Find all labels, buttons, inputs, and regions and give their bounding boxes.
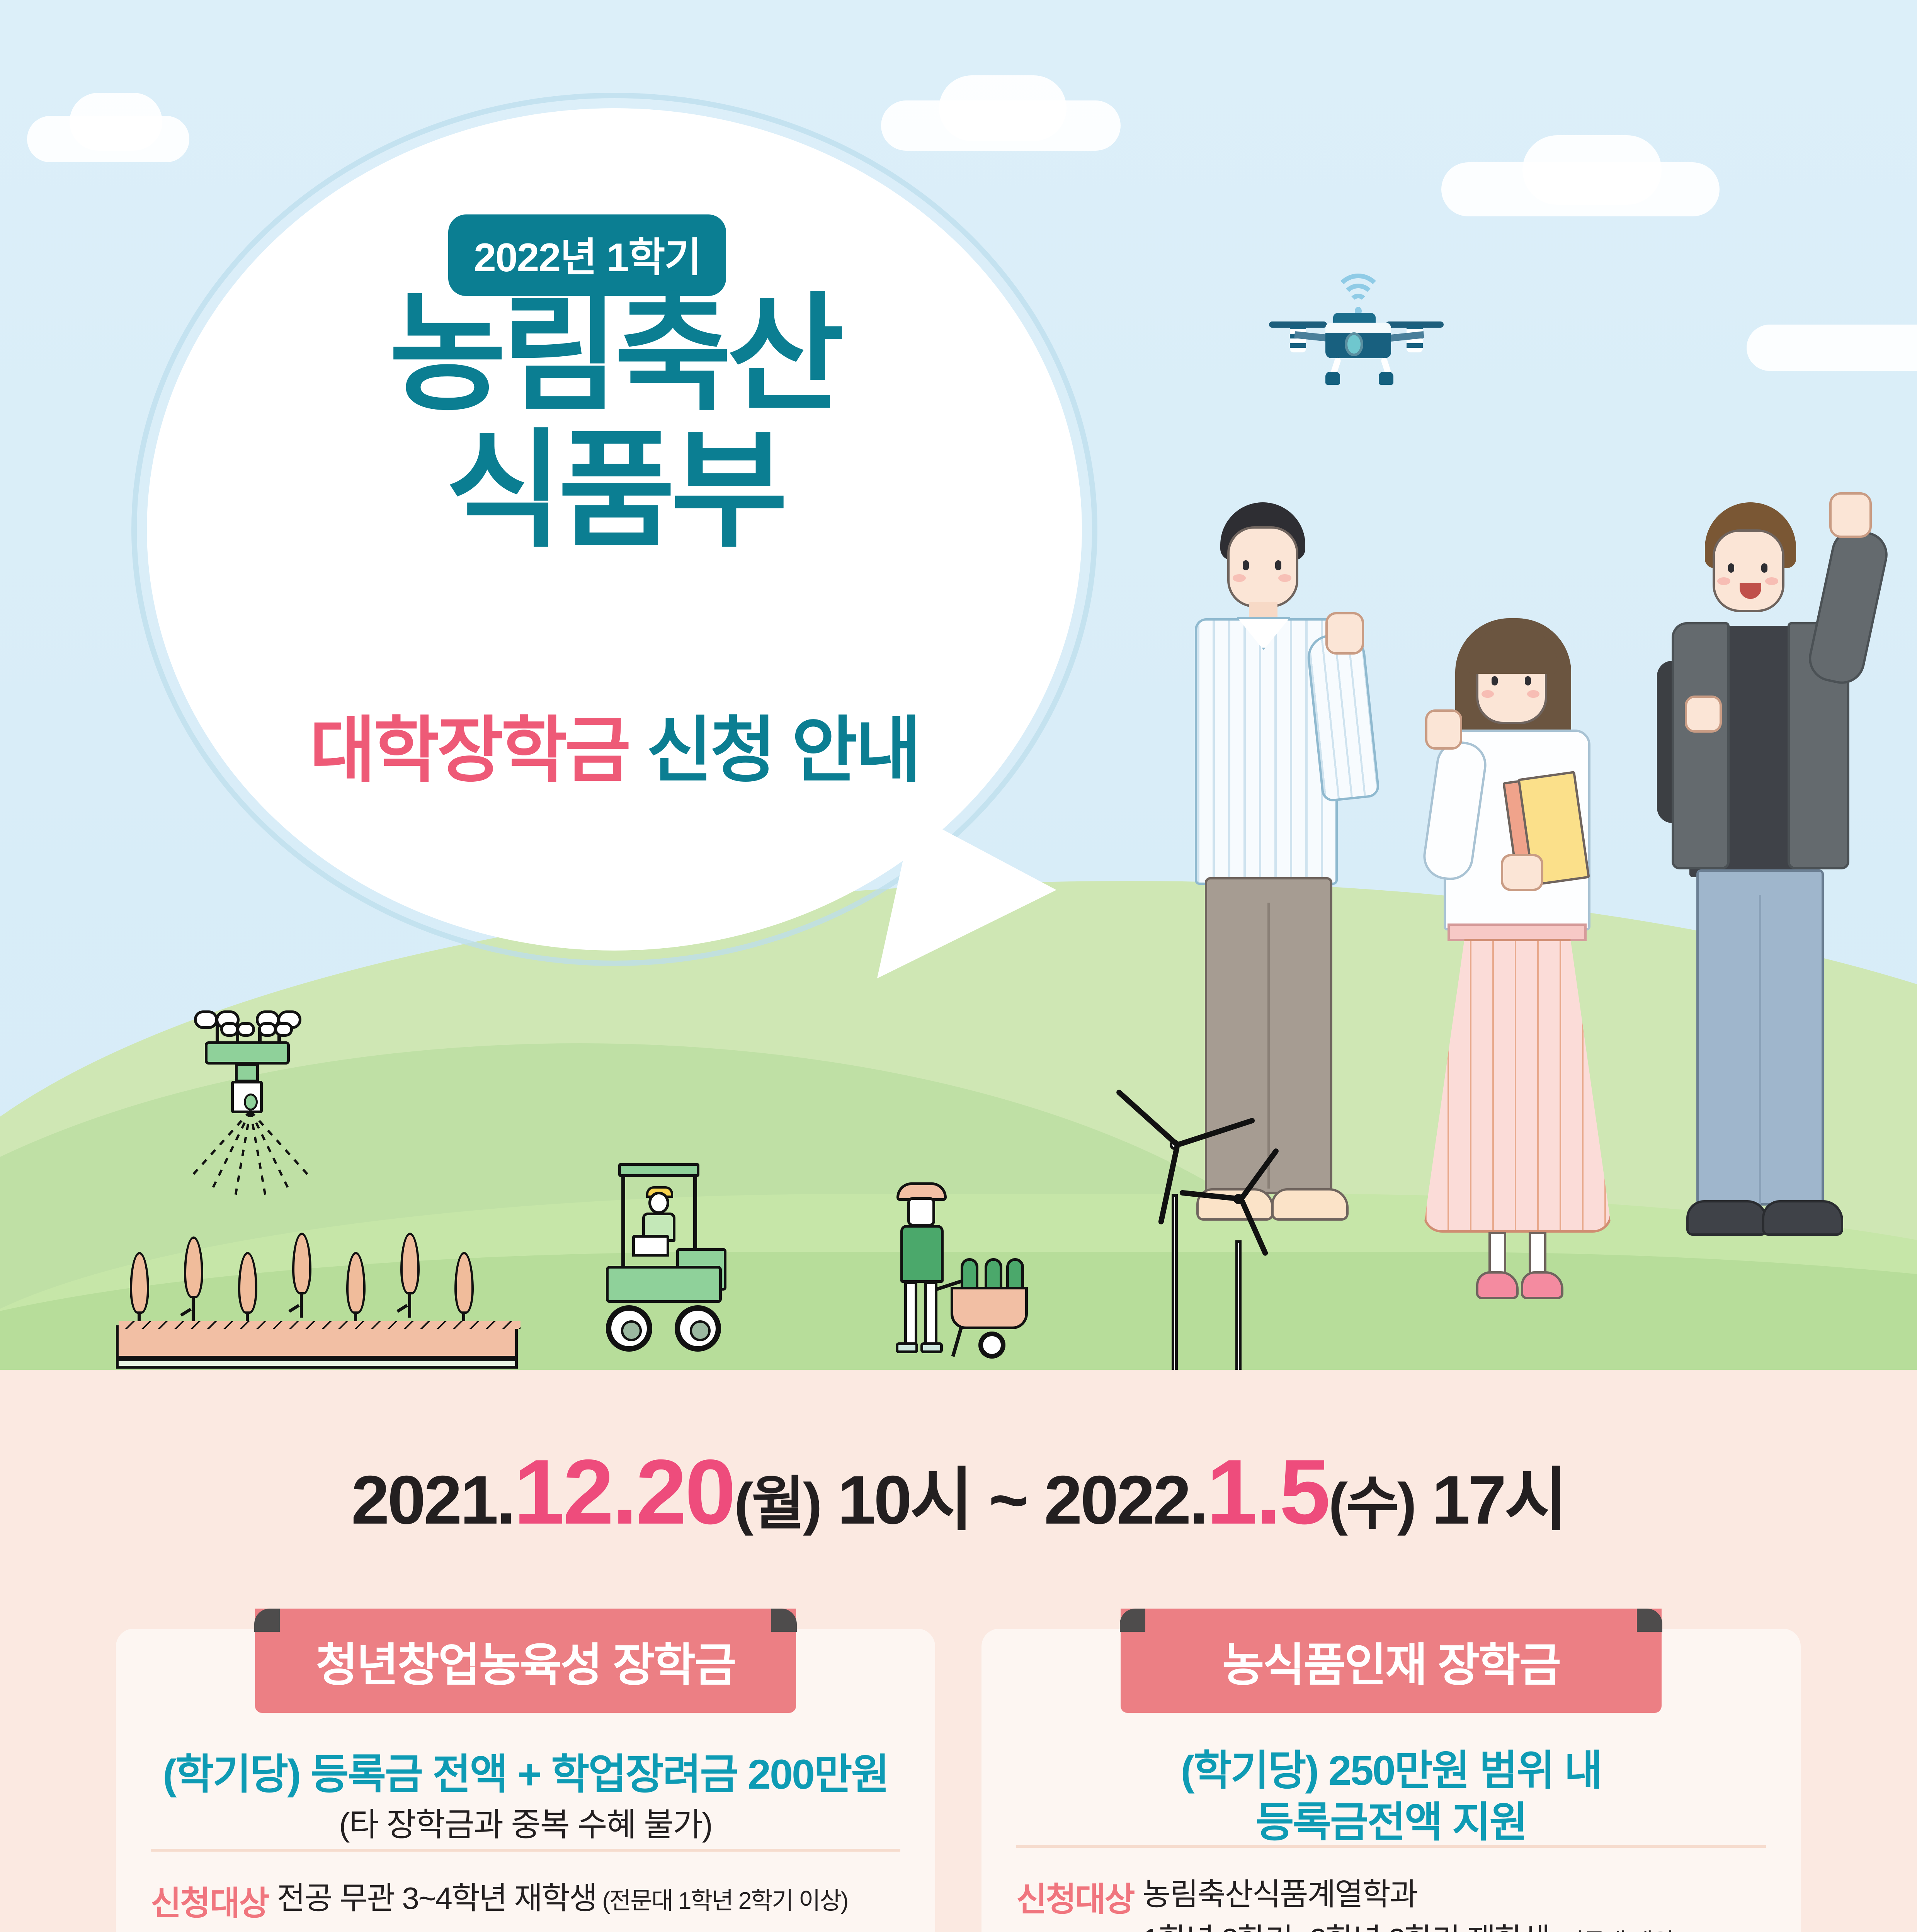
page-subtitle-rest: 신청 안내: [629, 711, 919, 791]
period-separator: ~: [988, 1461, 1044, 1538]
student-female-with-books: [1414, 618, 1631, 1325]
application-period: 2021.12.20(월) 10시 ~ 2022.1.5(수) 17시: [0, 1439, 1917, 1545]
period-start-year: 2021.: [351, 1461, 514, 1538]
period-end-time: 17시: [1415, 1461, 1566, 1538]
card-detail-rows: 신청대상 농림축산식품계열학과 1학년 2학기~2학년 2학기 재학생 (전문대…: [1016, 1872, 1774, 1932]
detail-value: 농림축산식품계열학과 1학년 2학기~2학년 2학기 재학생 (전문대 제외): [1134, 1872, 1774, 1932]
detail-value-small: (전문대 제외): [1550, 1929, 1680, 1932]
tractor-icon: [560, 1159, 777, 1370]
card-amount: (학기당) 등록금 전액 + 학업장려금 200만원: [116, 1748, 935, 1800]
period-start-time: 10시: [820, 1461, 989, 1538]
detail-value-main: 전공 무관 3~4학년 재학생: [277, 1881, 596, 1915]
wind-turbine-icon: [1206, 1194, 1271, 1370]
hero-illustration-section: 2022년 1학기 농림축산 식품부 대학장학금 신청 안내: [0, 0, 1917, 1370]
cloud-icon: [1747, 325, 1917, 371]
scholarship-card-youth-startup: 청년창업농육성 장학금 (학기당) 등록금 전액 + 학업장려금 200만원 (…: [116, 1629, 935, 1932]
spray-lines-icon: [205, 1111, 294, 1207]
page-title-line2: 식품부: [162, 422, 1067, 559]
agri-drone-icon: [166, 995, 336, 1211]
page-subtitle: 대학장학금 신청 안내: [162, 692, 1067, 796]
wheat-field-icon: [116, 1209, 526, 1370]
card-divider: [1016, 1845, 1766, 1848]
page-subtitle-highlight: 대학장학금: [310, 711, 629, 791]
page-title-line1: 농림축산: [162, 286, 1067, 422]
card-title: 청년창업농육성 장학금: [316, 1628, 735, 1694]
cloud-icon: [939, 75, 1067, 141]
student-male-jacket-cheering: [1638, 479, 1893, 1321]
detail-label: 신청대상: [151, 1876, 268, 1924]
detail-label: 신청대상: [1016, 1872, 1134, 1920]
card-amount: (학기당) 250만원 범위 내 등록금전액 지원: [981, 1745, 1801, 1848]
period-end-date: 1.5: [1206, 1441, 1328, 1543]
scholarship-cards: 청년창업농육성 장학금 (학기당) 등록금 전액 + 학업장려금 200만원 (…: [116, 1609, 1801, 1932]
period-end-day: (수): [1328, 1471, 1415, 1536]
page-title: 농림축산 식품부: [162, 286, 1067, 559]
farmer-wheelbarrow-icon: [873, 1182, 1074, 1370]
content-section: 2021.12.20(월) 10시 ~ 2022.1.5(수) 17시 청년창업…: [0, 1370, 1917, 1932]
cloud-icon: [1522, 135, 1662, 205]
card-title: 농식품인재 장학금: [1222, 1628, 1560, 1694]
card-ribbon-header: 청년창업농육성 장학금: [255, 1609, 796, 1713]
poster-root: 2022년 1학기 농림축산 식품부 대학장학금 신청 안내 2021.12.2…: [0, 0, 1917, 1932]
period-start-day: (월): [734, 1471, 820, 1536]
period-start-date: 12.20: [514, 1441, 734, 1543]
detail-row: 신청대상 전공 무관 3~4학년 재학생 (전문대 1학년 2학기 이상): [151, 1876, 908, 1924]
drone-icon: [1267, 286, 1445, 379]
detail-row: 신청대상 농림축산식품계열학과 1학년 2학기~2학년 2학기 재학생 (전문대…: [1016, 1872, 1774, 1932]
detail-value-main: 농림축산식품계열학과 1학년 2학기~2학년 2학기 재학생: [1142, 1877, 1549, 1932]
cloud-icon: [70, 93, 162, 151]
detail-value: 전공 무관 3~4학년 재학생 (전문대 1학년 2학기 이상): [268, 1876, 908, 1921]
detail-value-small: (전문대 1학년 2학기 이상): [597, 1888, 848, 1914]
card-note: (타 장학금과 중복 수혜 불가): [116, 1799, 935, 1845]
card-detail-rows: 신청대상 전공 무관 3~4학년 재학생 (전문대 1학년 2학기 이상) 신청…: [151, 1876, 908, 1932]
scholarship-card-agrifood-talent: 농식품인재 장학금 (학기당) 250만원 범위 내 등록금전액 지원 신청대상…: [981, 1629, 1801, 1932]
card-ribbon-header: 농식품인재 장학금: [1121, 1609, 1662, 1713]
card-divider: [151, 1849, 900, 1852]
wind-turbine-icon: [1136, 1140, 1213, 1370]
period-end-year: 2022.: [1044, 1461, 1206, 1538]
